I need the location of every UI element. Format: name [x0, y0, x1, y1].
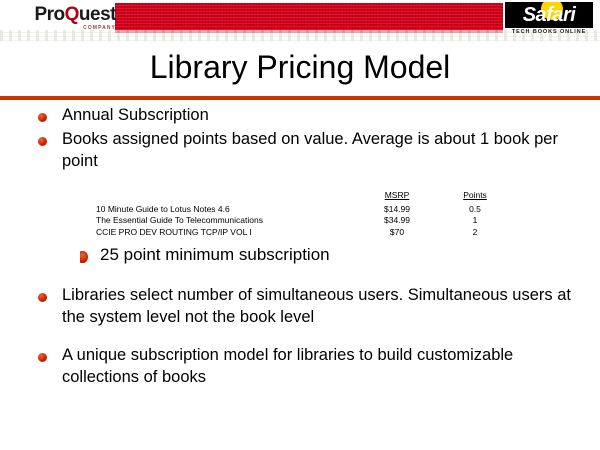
pricing-table: MSRP Points 10 Minute Guide to Lotus Not… — [96, 190, 514, 238]
table-row: The Essential Guide To Telecommunication… — [96, 215, 514, 227]
pricing-table-wrapper: MSRP Points 10 Minute Guide to Lotus Not… — [0, 190, 600, 238]
table-header-row: MSRP Points — [96, 190, 514, 204]
page-title: Library Pricing Model — [0, 48, 600, 86]
bullet-dot-icon — [38, 353, 47, 362]
bullet-text: Annual Subscription — [62, 104, 592, 126]
sub-list-item: 25 point minimum subscription — [0, 244, 600, 266]
spacer — [0, 330, 600, 344]
bullet-dot-icon — [38, 113, 47, 122]
cell-msrp: $14.99 — [358, 204, 436, 216]
cell-msrp: $70 — [358, 227, 436, 239]
slide-root: { "header": { "proquest_logo": { "word_p… — [0, 0, 600, 450]
safari-logo: Safari TECH BOOKS ONLINE — [505, 2, 593, 38]
bullet-text: Books assigned points based on value. Av… — [62, 128, 592, 172]
safari-wordmark: Safari — [505, 3, 593, 27]
spacer — [0, 270, 600, 284]
bullet-dot-icon — [38, 293, 47, 302]
list-item: A unique subscription model for librarie… — [0, 344, 600, 388]
column-header-title — [96, 190, 358, 204]
bullet-text: Libraries select number of simultaneous … — [62, 284, 592, 328]
arrow-marker-icon — [80, 251, 88, 263]
cell-book-title: 10 Minute Guide to Lotus Notes 4.6 — [96, 204, 358, 216]
spacer — [0, 174, 600, 184]
column-header-msrp: MSRP — [358, 190, 436, 204]
proquest-wordmark: ProQuest — [24, 5, 116, 25]
sub-bullet-text: 25 point minimum subscription — [100, 244, 600, 266]
bullet-text: A unique subscription model for librarie… — [62, 344, 592, 388]
cell-points: 2 — [436, 227, 514, 239]
bullet-dot-icon — [38, 137, 47, 146]
cell-points: 0.5 — [436, 204, 514, 216]
proquest-word-pre: Pro — [34, 4, 64, 25]
cell-points: 1 — [436, 215, 514, 227]
header-red-band — [115, 3, 503, 33]
table-row: CCIE PRO DEV ROUTING TCP/IP VOL I $70 2 — [96, 227, 514, 239]
column-header-points: Points — [436, 190, 514, 204]
list-item: Books assigned points based on value. Av… — [0, 128, 600, 172]
slide-header: ProQuest COMPANY Safari TECH BOOKS ONLIN… — [0, 0, 600, 40]
safari-logo-box: Safari — [505, 2, 593, 28]
safari-logo-tagline: TECH BOOKS ONLINE — [505, 29, 593, 35]
list-item: Annual Subscription — [0, 104, 600, 126]
cell-book-title: CCIE PRO DEV ROUTING TCP/IP VOL I — [96, 227, 358, 239]
proquest-logo-subtitle: COMPANY — [24, 25, 116, 31]
title-divider — [0, 96, 600, 100]
proquest-word-q: Q — [65, 4, 79, 25]
table-row: 10 Minute Guide to Lotus Notes 4.6 $14.9… — [96, 204, 514, 216]
cell-book-title: The Essential Guide To Telecommunication… — [96, 215, 358, 227]
cell-msrp: $34.99 — [358, 215, 436, 227]
slide-body: Annual Subscription Books assigned point… — [0, 104, 600, 390]
proquest-word-post: uest — [79, 4, 116, 25]
proquest-logo: ProQuest COMPANY — [24, 4, 116, 34]
list-item: Libraries select number of simultaneous … — [0, 284, 600, 328]
